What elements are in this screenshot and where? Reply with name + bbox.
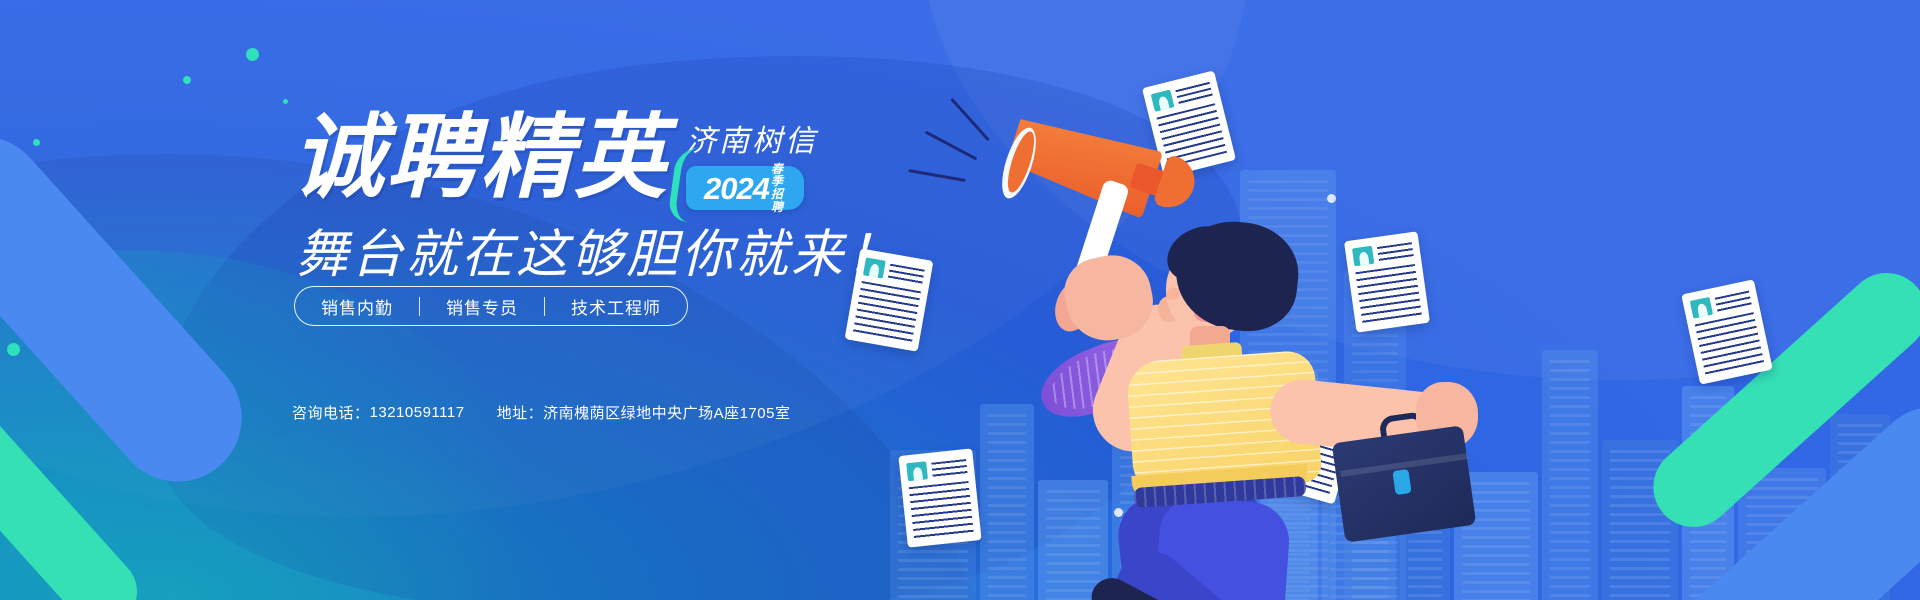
banner-text-content: 诚聘精英 济南树信 2024 春季 招聘 舞台就在这够胆你就来！ 销售内勤 销售…: [300, 0, 1080, 600]
badge-subtitle-line2: 招聘: [771, 188, 790, 213]
briefcase-lock: [1392, 469, 1411, 495]
decorative-dot: [33, 139, 40, 146]
phone-label: 咨询电话：: [292, 402, 370, 423]
badge-hook-accent: [667, 148, 699, 222]
headline-row: 诚聘精英 济南树信 2024 春季 招聘: [292, 112, 818, 210]
badge-year: 2024: [704, 173, 769, 204]
page-title: 诚聘精英: [292, 112, 668, 204]
position-tag-sales-assistant[interactable]: 销售内勤: [321, 294, 393, 319]
position-tag-sales-specialist[interactable]: 销售专员: [446, 294, 518, 319]
positions-pill: 销售内勤 销售专员 技术工程师: [294, 286, 688, 326]
pill-separator: [419, 297, 420, 316]
phone-value: 13210591117: [370, 404, 465, 421]
megaphone-grip: [1153, 154, 1201, 214]
badge-subtitle-line1: 春季: [771, 163, 790, 188]
company-name: 济南树信: [686, 116, 818, 160]
decorative-dot: [246, 48, 259, 61]
campaign-badge: 2024 春季 招聘: [686, 166, 804, 210]
position-tag-engineer[interactable]: 技术工程师: [571, 294, 661, 319]
contact-info: 咨询电话： 13210591117 地址： 济南槐荫区绿地中央广场A座1705室: [292, 402, 790, 423]
badge-subtitle: 春季 招聘: [771, 163, 790, 214]
page-subtitle: 舞台就在这够胆你就来！: [296, 212, 901, 287]
decorative-dot: [7, 343, 20, 356]
address-label: 地址：: [497, 402, 544, 423]
brand-badge-group: 济南树信 2024 春季 招聘: [686, 112, 818, 210]
nose: [1166, 288, 1180, 300]
recruitment-banner: 诚聘精英 济南树信 2024 春季 招聘 舞台就在这够胆你就来！ 销售内勤 销售…: [0, 0, 1920, 600]
decorative-dot: [283, 99, 288, 104]
address-value: 济南槐荫区绿地中央广场A座1705室: [543, 402, 790, 423]
decorative-dot: [183, 76, 191, 84]
pill-separator: [544, 297, 545, 316]
